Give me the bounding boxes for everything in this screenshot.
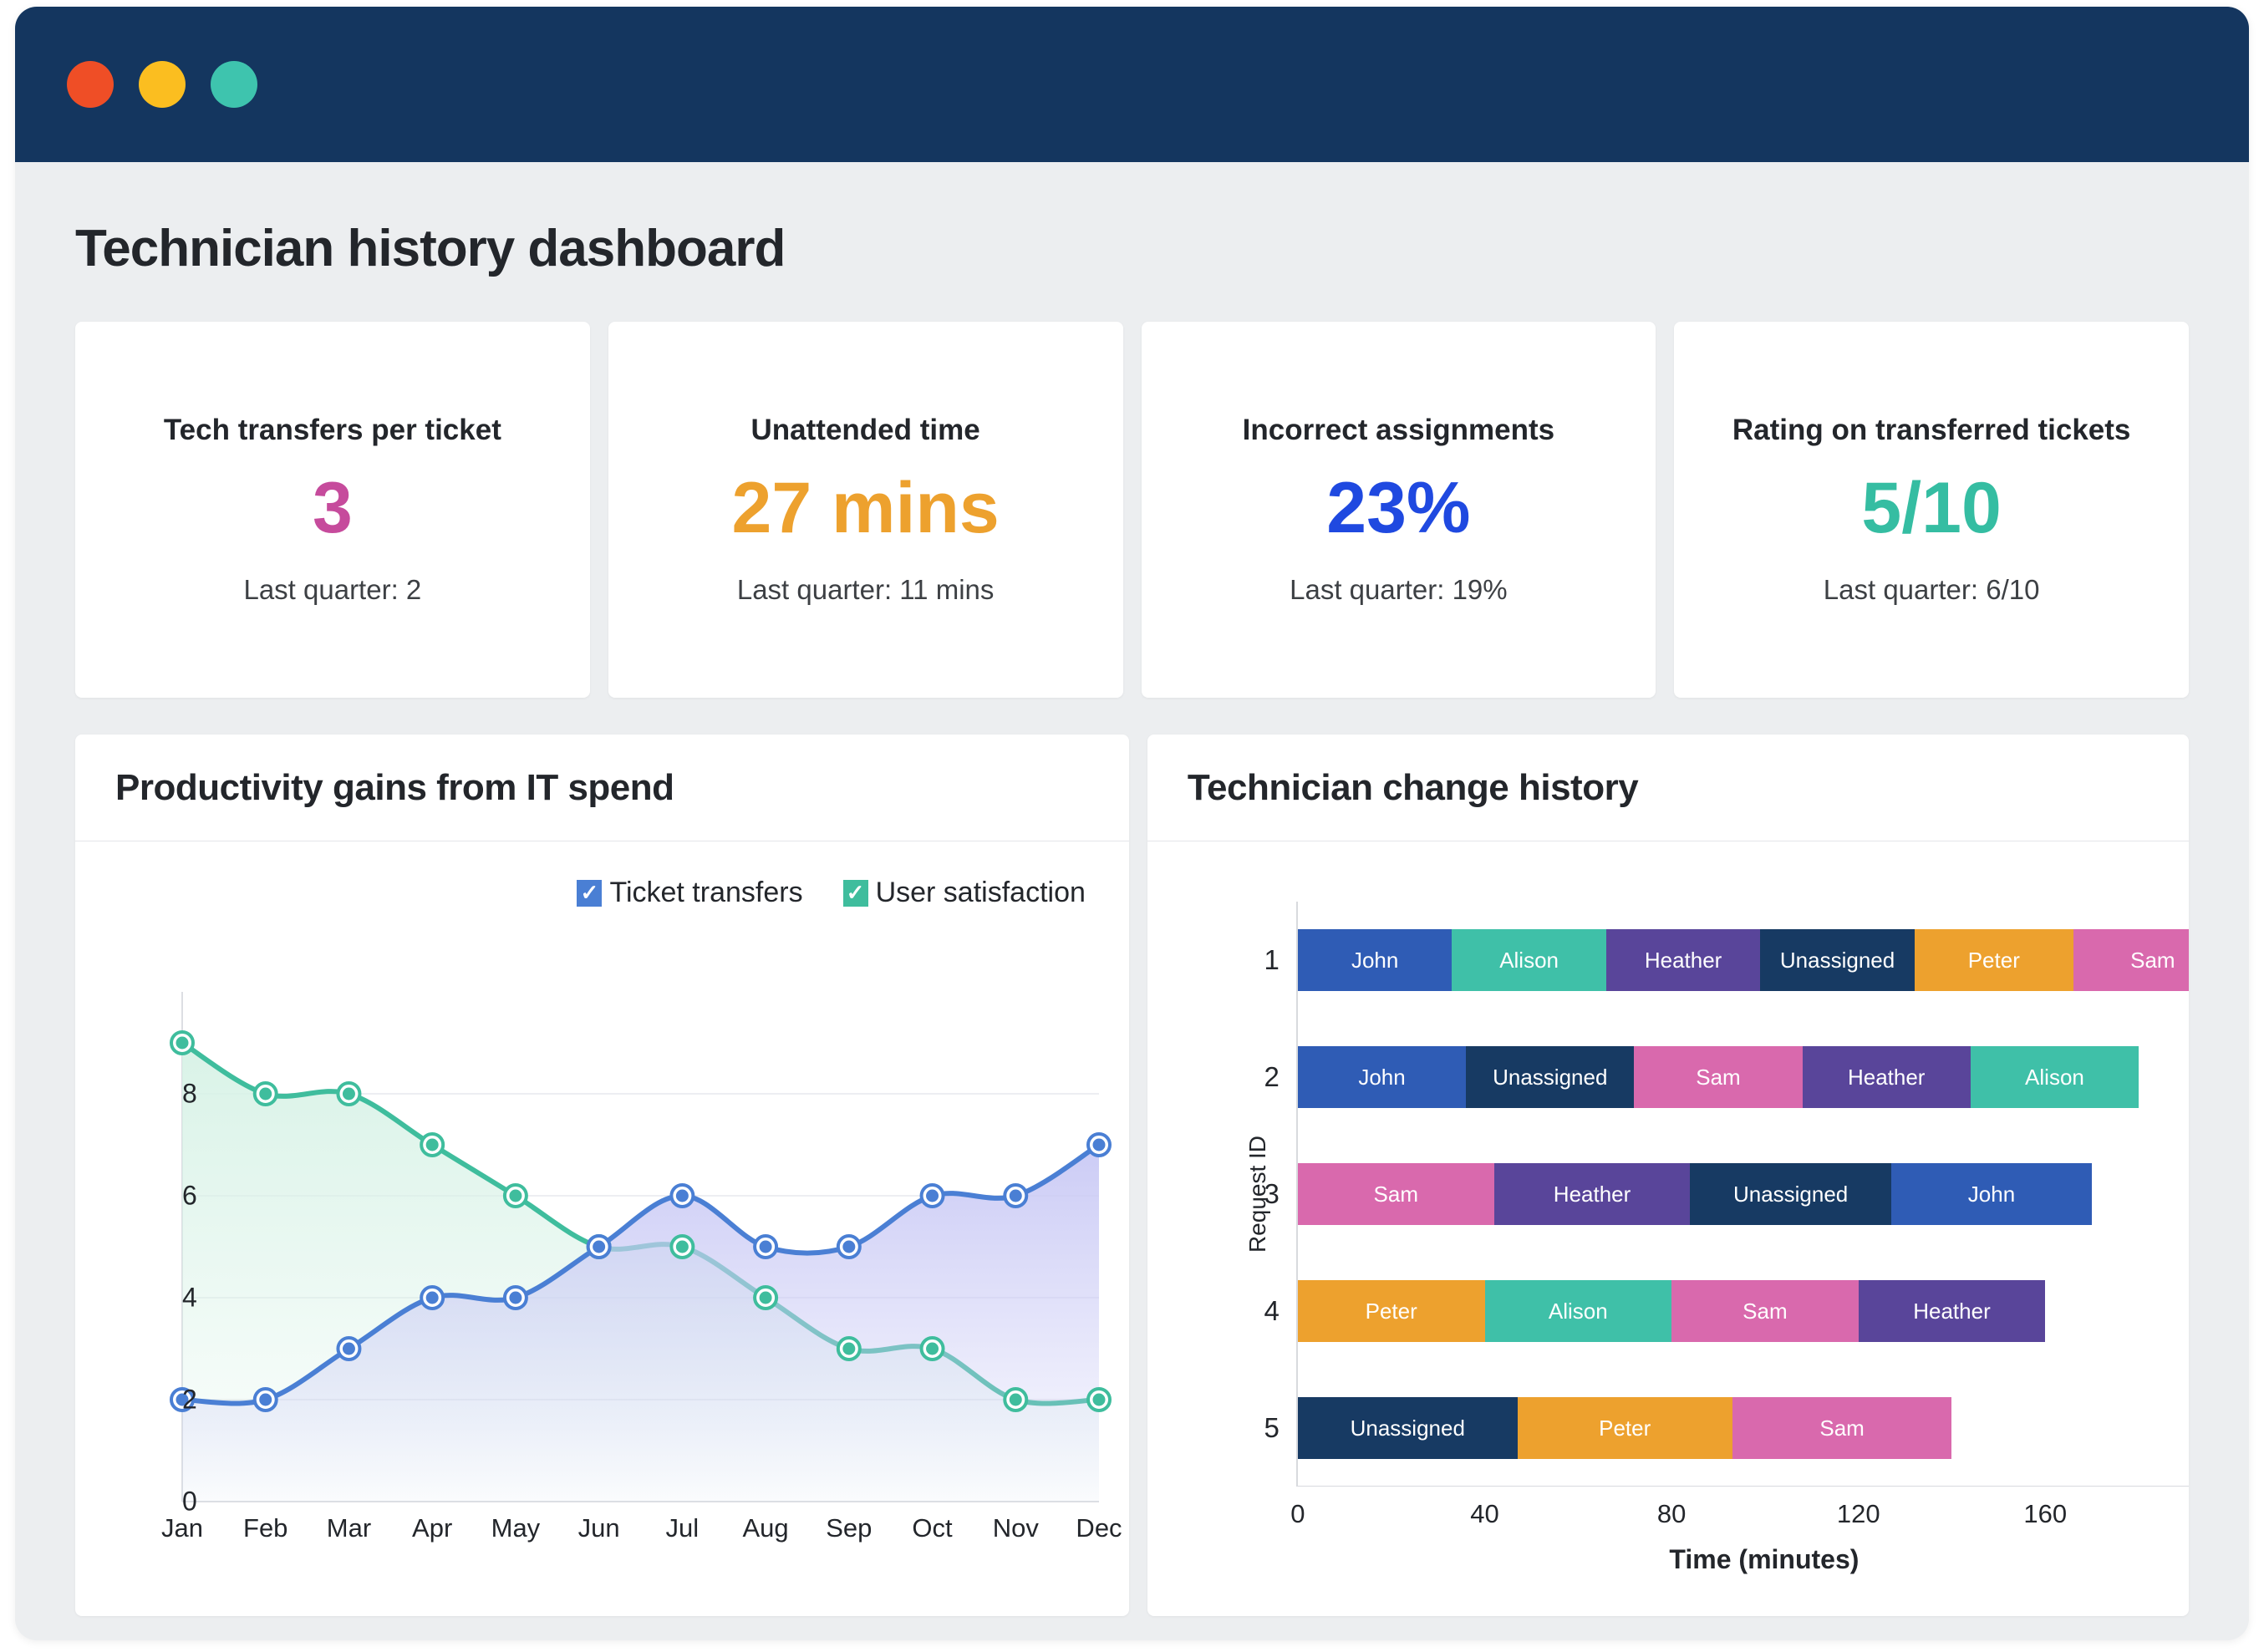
x-axis-tick-label: 40 xyxy=(1470,1499,1498,1529)
gantt-bar-row[interactable]: SamHeatherUnassignedJohn xyxy=(1298,1163,2092,1225)
gantt-segment[interactable]: Unassigned xyxy=(1760,929,1914,991)
stacked-bar-chart: Request ID1JohnAlisonHeatherUnassignedPe… xyxy=(1296,902,2189,1487)
gantt-segment[interactable]: Heather xyxy=(1494,1163,1691,1225)
chart-panel-row: Productivity gains from IT spend ✓ Ticke… xyxy=(75,735,2189,1616)
gantt-segment[interactable]: Heather xyxy=(1606,929,1760,991)
minimize-window-button[interactable] xyxy=(139,61,186,108)
gantt-segment[interactable]: Alison xyxy=(1971,1046,2139,1108)
technician-history-panel: Technician change history Request ID1Joh… xyxy=(1147,735,2189,1616)
kpi-card-row: Tech transfers per ticket 3 Last quarter… xyxy=(75,322,2189,698)
gantt-segment[interactable]: John xyxy=(1891,1163,2092,1225)
x-axis-tick-label: 160 xyxy=(2023,1499,2067,1529)
kpi-label: Unattended time xyxy=(751,414,980,447)
gantt-row-label: 2 xyxy=(1264,1061,1280,1093)
x-axis-tick-label: Jun xyxy=(578,1513,620,1543)
gantt-segment[interactable]: Peter xyxy=(1298,1280,1485,1342)
gantt-row-label: 1 xyxy=(1264,944,1280,976)
x-axis-tick-label: May xyxy=(491,1513,541,1543)
kpi-label: Incorrect assignments xyxy=(1243,414,1554,447)
page-title: Technician history dashboard xyxy=(75,219,2189,278)
kpi-value: 5/10 xyxy=(1861,470,2001,546)
x-axis-tick-label: Feb xyxy=(243,1513,287,1543)
gantt-bar-row[interactable]: JohnUnassignedSamHeatherAlison xyxy=(1298,1046,2139,1108)
kpi-label: Rating on transferred tickets xyxy=(1732,414,2131,447)
gantt-chart-body: Request ID1JohnAlisonHeatherUnassignedPe… xyxy=(1147,841,2189,1616)
gantt-segment[interactable]: Peter xyxy=(1518,1397,1732,1459)
x-axis-title: Time (minutes) xyxy=(1669,1544,1859,1575)
x-axis-tick-label: 120 xyxy=(1837,1499,1880,1529)
productivity-chart-panel: Productivity gains from IT spend ✓ Ticke… xyxy=(75,735,1129,1616)
panel-title: Productivity gains from IT spend xyxy=(75,735,1129,841)
kpi-card-tech-transfers: Tech transfers per ticket 3 Last quarter… xyxy=(75,322,590,698)
gantt-segment[interactable]: Sam xyxy=(1732,1397,1952,1459)
gantt-bar-row[interactable]: UnassignedPeterSam xyxy=(1298,1397,1952,1459)
x-axis-tick-label: Aug xyxy=(742,1513,788,1543)
gantt-segment[interactable]: Heather xyxy=(1859,1280,2046,1342)
x-axis-tick-label: 80 xyxy=(1657,1499,1686,1529)
kpi-subtext: Last quarter: 2 xyxy=(243,574,421,606)
gantt-segment[interactable]: Unassigned xyxy=(1298,1397,1518,1459)
x-axis-tick-label: 0 xyxy=(1290,1499,1305,1529)
x-axis-tick-label: Nov xyxy=(993,1513,1039,1543)
kpi-subtext: Last quarter: 6/10 xyxy=(1824,574,2040,606)
gantt-segment[interactable]: Peter xyxy=(1915,929,2073,991)
gantt-bar-row[interactable]: PeterAlisonSamHeather xyxy=(1298,1280,2045,1342)
title-bar xyxy=(15,7,2249,162)
maximize-window-button[interactable] xyxy=(211,61,257,108)
kpi-value: 27 mins xyxy=(731,470,999,546)
close-window-button[interactable] xyxy=(67,61,114,108)
gantt-segment[interactable]: Sam xyxy=(1298,1163,1494,1225)
panel-title: Technician change history xyxy=(1147,735,2189,841)
x-axis-tick-label: Mar xyxy=(327,1513,371,1543)
x-axis-tick-label: Dec xyxy=(1076,1513,1122,1543)
gantt-segment[interactable]: Alison xyxy=(1485,1280,1672,1342)
kpi-subtext: Last quarter: 19% xyxy=(1290,574,1508,606)
x-axis-tick-label: Jan xyxy=(161,1513,203,1543)
x-axis-tick-label: Sep xyxy=(826,1513,872,1543)
gantt-row-label: 5 xyxy=(1264,1412,1280,1444)
kpi-value: 23% xyxy=(1326,470,1470,546)
gantt-segment[interactable]: Unassigned xyxy=(1466,1046,1634,1108)
line-chart-body: ✓ Ticket transfers ✓ User satisfaction 0… xyxy=(75,841,1129,1616)
gantt-segment[interactable]: Sam xyxy=(1671,1280,1859,1342)
app-window: Technician history dashboard Tech transf… xyxy=(15,7,2249,1640)
gantt-segment[interactable]: Sam xyxy=(1634,1046,1802,1108)
kpi-subtext: Last quarter: 11 mins xyxy=(737,574,995,606)
gantt-segment[interactable]: Unassigned xyxy=(1690,1163,1890,1225)
x-axis-tick-label: Oct xyxy=(912,1513,952,1543)
gantt-segment[interactable]: Sam xyxy=(2073,929,2189,991)
kpi-card-rating-transferred: Rating on transferred tickets 5/10 Last … xyxy=(1674,322,2189,698)
kpi-card-unattended-time: Unattended time 27 mins Last quarter: 11… xyxy=(608,322,1123,698)
gantt-row-label: 4 xyxy=(1264,1295,1280,1327)
x-axis-tick-label: Apr xyxy=(412,1513,452,1543)
kpi-label: Tech transfers per ticket xyxy=(164,414,501,447)
area-line-chart: 02468JanFebMarAprMayJunJulAugSepOctNovDe… xyxy=(75,841,1129,1616)
gantt-segment[interactable]: John xyxy=(1298,1046,1466,1108)
x-axis-tick-label: Jul xyxy=(666,1513,700,1543)
gantt-segment[interactable]: Alison xyxy=(1452,929,1605,991)
kpi-value: 3 xyxy=(313,470,353,546)
gantt-segment[interactable]: Heather xyxy=(1803,1046,1971,1108)
kpi-card-incorrect-assignments: Incorrect assignments 23% Last quarter: … xyxy=(1142,322,1656,698)
dashboard-content: Technician history dashboard Tech transf… xyxy=(15,219,2249,1616)
gantt-bar-row[interactable]: JohnAlisonHeatherUnassignedPeterSam xyxy=(1298,929,2189,991)
gantt-segment[interactable]: John xyxy=(1298,929,1452,991)
gantt-row-label: 3 xyxy=(1264,1178,1280,1210)
